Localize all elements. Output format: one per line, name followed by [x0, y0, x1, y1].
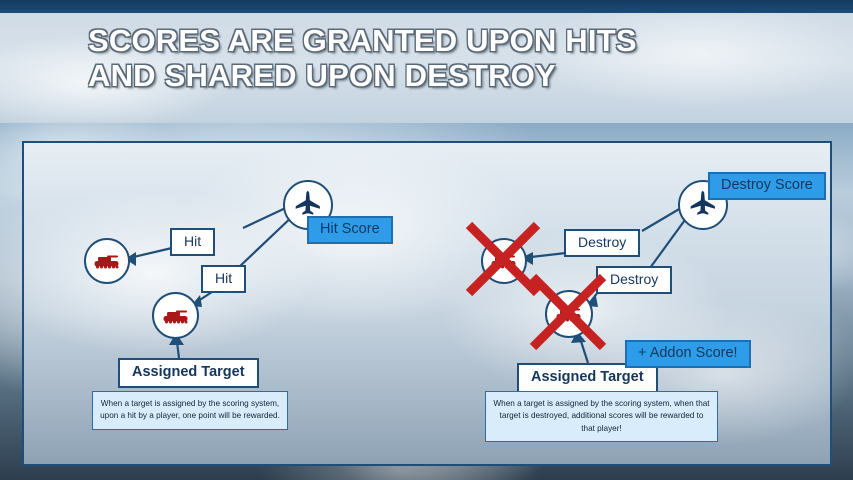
right-target-node-top[interactable]: [481, 238, 527, 284]
left-target-node-bottom[interactable]: [152, 292, 199, 339]
tank-icon: [489, 251, 519, 271]
page-title: SCORES ARE GRANTED UPON HITS AND SHARED …: [88, 24, 637, 93]
left-target-node-top[interactable]: [84, 238, 130, 284]
right-caption: When a target is assigned by the scoring…: [485, 391, 718, 442]
tank-icon: [554, 304, 584, 324]
tank-icon: [161, 306, 191, 326]
right-edge-label-upper: Destroy: [564, 229, 640, 257]
right-target-node-bottom[interactable]: [545, 290, 593, 338]
left-caption: When a target is assigned by the scoring…: [92, 391, 288, 430]
left-edge-label-upper: Hit: [170, 228, 215, 256]
right-score-badge[interactable]: Destroy Score: [708, 172, 826, 200]
tank-icon: [92, 251, 122, 271]
top-accent-band: [0, 0, 853, 13]
slide-root: SCORES ARE GRANTED UPON HITS AND SHARED …: [0, 0, 853, 480]
left-score-badge[interactable]: Hit Score: [307, 216, 393, 244]
right-edge-label-lower: Destroy: [596, 266, 672, 294]
right-addon-badge[interactable]: + Addon Score!: [625, 340, 751, 368]
left-edge-label-lower: Hit: [201, 265, 246, 293]
left-assigned-target-label: Assigned Target: [118, 358, 259, 388]
